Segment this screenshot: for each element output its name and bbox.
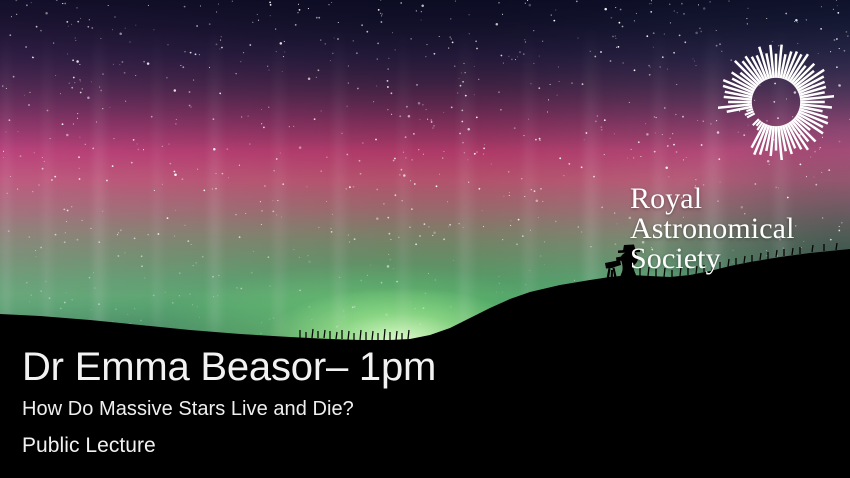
- ras-logo-line-1: Royal: [630, 184, 845, 214]
- caption-block: Dr Emma Beasor– 1pm How Do Massive Stars…: [22, 344, 722, 460]
- ras-logo-line-2: Astronomical: [630, 214, 845, 244]
- ras-logo: Royal Astronomical Society: [630, 44, 840, 236]
- bottom-letterbox: [0, 464, 850, 478]
- lecture-poster: Royal Astronomical Society Dr Emma Beaso…: [0, 0, 850, 478]
- ras-logo-text: Royal Astronomical Society: [630, 184, 845, 274]
- lecture-kicker: Public Lecture: [22, 432, 722, 460]
- ras-logo-line-3: Society: [630, 244, 845, 274]
- lecture-subtitle: How Do Massive Stars Live and Die?: [22, 396, 722, 422]
- lecture-title: Dr Emma Beasor– 1pm: [22, 344, 722, 390]
- radial-sunburst-icon: [718, 44, 834, 160]
